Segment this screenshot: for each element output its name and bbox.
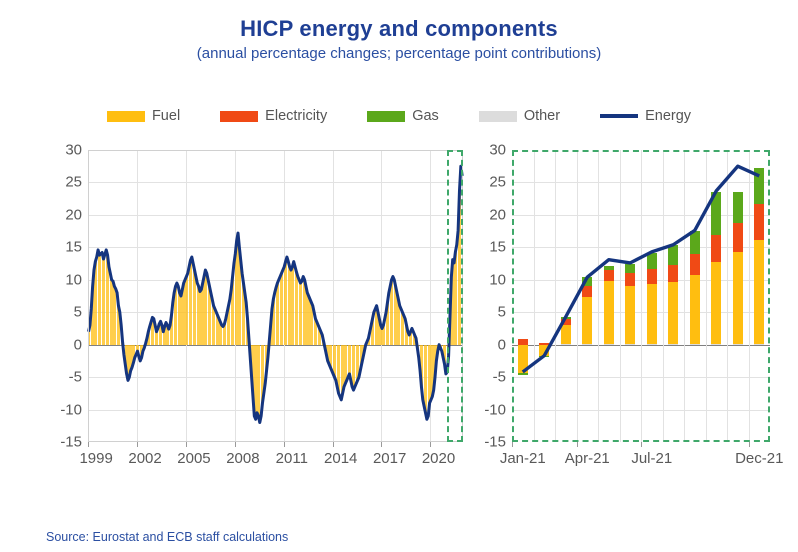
y-axis-tick-label: 25 xyxy=(65,174,82,191)
x-axis-tick-mark xyxy=(235,442,236,447)
vertical-gridline xyxy=(333,150,334,442)
bar-segment-other xyxy=(582,344,592,345)
y-axis-tick-label: -15 xyxy=(60,434,82,451)
bar-segment-electricity xyxy=(561,319,571,325)
bar-segment-gas xyxy=(539,356,549,357)
bar-segment-gas xyxy=(518,373,528,374)
y-axis-tick-label: -5 xyxy=(493,369,506,386)
x-axis-tick-label: 2002 xyxy=(128,450,161,467)
left-plot-area xyxy=(88,150,463,442)
x-axis-tick-mark xyxy=(88,442,89,447)
bar-segment-other xyxy=(647,344,657,345)
bar-segment-gas xyxy=(754,168,764,204)
vertical-gridline xyxy=(555,150,556,442)
y-axis-tick-label: 10 xyxy=(65,271,82,288)
y-axis-tick-label: -10 xyxy=(484,401,506,418)
x-axis-tick-label: 2020 xyxy=(422,450,455,467)
bar-segment-fuel xyxy=(711,262,721,344)
x-axis-tick-label: Jan-21 xyxy=(500,450,546,467)
vertical-gridline xyxy=(381,150,382,442)
y-axis-tick-label: 0 xyxy=(74,336,82,353)
stacked-bar xyxy=(267,345,268,358)
vertical-gridline xyxy=(620,150,621,442)
bar-segment-electricity xyxy=(711,235,721,262)
horizontal-gridline xyxy=(88,215,463,216)
bar-segment-other xyxy=(733,344,743,345)
horizontal-gridline xyxy=(88,377,463,378)
x-axis-tick-mark xyxy=(749,442,750,447)
horizontal-gridline xyxy=(88,182,463,183)
bar-segment-other xyxy=(604,344,614,345)
bar-segment-fuel xyxy=(668,282,678,344)
bar-segment-fuel xyxy=(561,325,571,344)
y-axis-tick-label: -10 xyxy=(60,401,82,418)
x-axis-tick-mark xyxy=(284,442,285,447)
x-axis-tick-mark xyxy=(186,442,187,447)
vertical-gridline xyxy=(727,150,728,442)
y-axis-tick-label: 5 xyxy=(498,304,506,321)
left-chart-panel: -15-10-505101520253019992002200520082011… xyxy=(40,0,470,480)
y-axis-tick-label: -15 xyxy=(484,434,506,451)
bar-segment-fuel xyxy=(690,275,700,344)
bar-segment-fuel xyxy=(625,286,635,344)
bar-segment-fuel xyxy=(539,345,549,356)
right-chart-panel: -15-10-5051015202530Jan-21Apr-21Jul-21De… xyxy=(470,0,798,480)
bar-segment-gas xyxy=(582,277,592,286)
x-axis-tick-mark xyxy=(641,442,642,447)
stacked-bar xyxy=(448,345,449,356)
bar-segment-electricity xyxy=(539,343,549,344)
x-axis-tick-mark xyxy=(512,442,513,447)
vertical-gridline xyxy=(598,150,599,442)
bar-segment-fuel xyxy=(733,252,743,344)
bar-segment-other xyxy=(754,344,764,345)
bar-segment-electricity xyxy=(625,273,635,286)
vertical-gridline xyxy=(706,150,707,442)
bar-segment-other xyxy=(668,344,678,345)
bar-segment-gas xyxy=(711,192,721,235)
right-plot-area xyxy=(512,150,770,442)
vertical-gridline xyxy=(684,150,685,442)
y-axis-tick-label: 0 xyxy=(498,336,506,353)
bar-segment-other xyxy=(711,344,721,345)
bar-segment-electricity xyxy=(754,204,764,240)
vertical-gridline xyxy=(749,150,750,442)
bar-segment-electricity xyxy=(647,269,657,284)
stacked-bar xyxy=(437,345,438,351)
bar-segment-gas xyxy=(604,266,614,271)
y-axis-tick-label: 20 xyxy=(65,206,82,223)
bar-segment-electricity xyxy=(604,270,614,281)
vertical-gridline xyxy=(641,150,642,442)
y-axis-tick-label: -5 xyxy=(69,369,82,386)
x-axis-tick-label: 2005 xyxy=(177,450,210,467)
vertical-gridline xyxy=(137,150,138,442)
bar-segment-fuel xyxy=(647,284,657,344)
bar-segment-electricity xyxy=(690,254,700,275)
x-axis-tick-label: Dec-21 xyxy=(735,450,783,467)
source-note: Source: Eurostat and ECB staff calculati… xyxy=(46,530,288,544)
bar-segment-fuel xyxy=(754,240,764,344)
bar-segment-other xyxy=(625,344,635,345)
y-axis-tick-label: 30 xyxy=(489,142,506,159)
bar-segment-electricity xyxy=(733,223,743,252)
bar-segment-gas xyxy=(733,192,743,223)
y-axis-tick-label: 10 xyxy=(489,271,506,288)
vertical-gridline xyxy=(577,150,578,442)
bar-segment-gas xyxy=(561,317,571,319)
bar-segment-electricity xyxy=(518,339,528,345)
bar-segment-gas xyxy=(690,231,700,254)
horizontal-gridline xyxy=(88,280,463,281)
x-axis-tick-label: 2008 xyxy=(226,450,259,467)
bar-segment-other xyxy=(690,344,700,345)
bar-segment-other xyxy=(561,344,571,345)
x-axis-tick-label: Jul-21 xyxy=(631,450,672,467)
bar-segment-fuel xyxy=(582,297,592,344)
bar-segment-electricity xyxy=(668,265,678,283)
y-axis-tick-label: 20 xyxy=(489,206,506,223)
bar-segment-gas xyxy=(625,264,635,273)
x-axis-tick-mark xyxy=(381,442,382,447)
bar-segment-fuel xyxy=(518,345,528,374)
vertical-gridline xyxy=(88,150,89,442)
bar-segment-fuel xyxy=(604,281,614,344)
x-axis-tick-label: 1999 xyxy=(79,450,112,467)
bar-segment-gas xyxy=(647,253,657,269)
y-axis-tick-label: 30 xyxy=(65,142,82,159)
bar-segment-gas xyxy=(668,245,678,264)
stacked-bar xyxy=(462,176,463,345)
x-axis-tick-label: 2014 xyxy=(324,450,357,467)
bar-segment-electricity xyxy=(582,286,592,296)
y-axis-tick-label: 5 xyxy=(74,304,82,321)
x-axis-tick-label: Apr-21 xyxy=(565,450,610,467)
x-axis-tick-mark xyxy=(430,442,431,447)
x-axis-tick-label: 2011 xyxy=(276,450,308,467)
y-axis-tick-label: 25 xyxy=(489,174,506,191)
x-axis-tick-mark xyxy=(577,442,578,447)
vertical-gridline xyxy=(534,150,535,442)
x-axis-tick-mark xyxy=(137,442,138,447)
horizontal-gridline xyxy=(88,410,463,411)
chart-root: HICP energy and components (annual perce… xyxy=(0,0,798,552)
y-axis-tick-label: 15 xyxy=(65,239,82,256)
vertical-gridline xyxy=(663,150,664,442)
stacked-bar xyxy=(144,345,145,348)
horizontal-gridline xyxy=(88,247,463,248)
stacked-bar xyxy=(364,345,365,351)
x-axis-tick-label: 2017 xyxy=(373,450,406,467)
x-axis-tick-mark xyxy=(333,442,334,447)
y-axis-tick-label: 15 xyxy=(489,239,506,256)
